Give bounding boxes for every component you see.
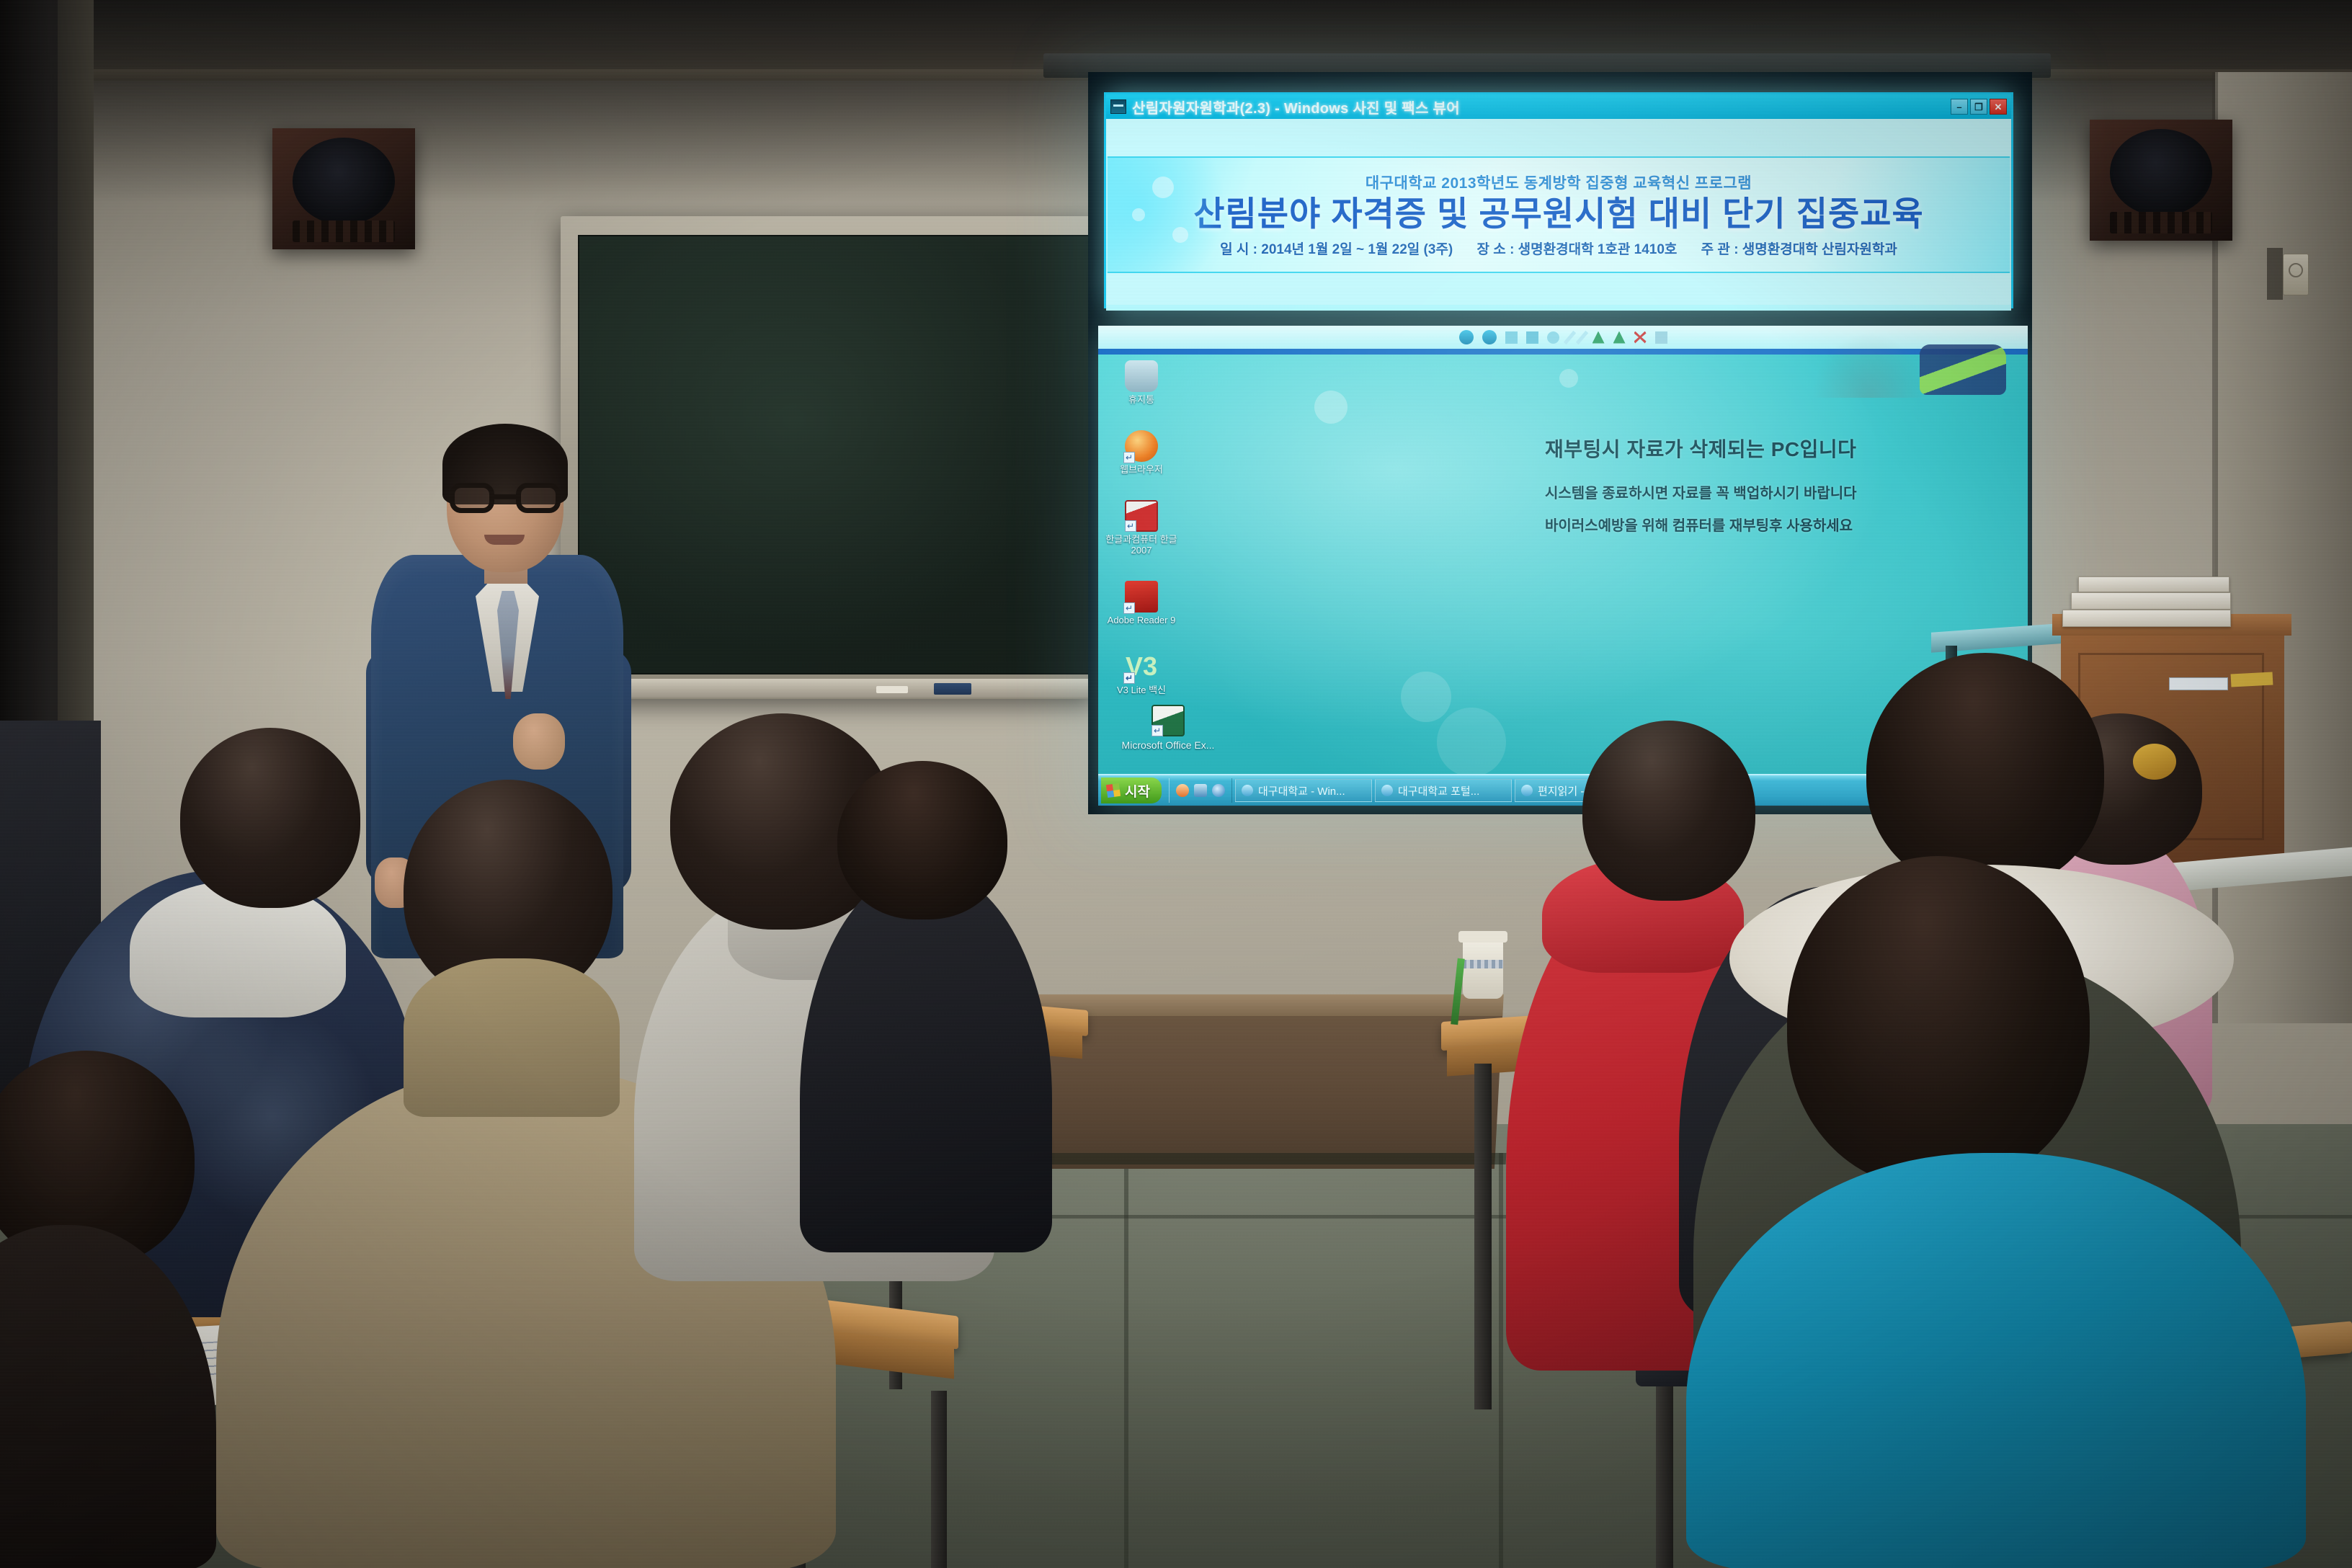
- start-slideshow-icon[interactable]: [1547, 331, 1559, 344]
- desktop-icon-recycle-bin[interactable]: 휴지통: [1104, 360, 1179, 406]
- recycle-bin-icon: [1125, 360, 1158, 392]
- shortcut-arrow-icon: ↵: [1125, 520, 1136, 532]
- wallpaper-notice-line-3: 바이러스예방을 위해 컴퓨터를 재부팅후 사용하세요: [1545, 514, 1948, 535]
- internet-explorer-icon: [1242, 785, 1253, 796]
- book-on-lectern: [2062, 610, 2231, 627]
- wallpaper-shoes-illustration: [1920, 344, 2006, 395]
- desktop-icon-label: V3 Lite 백신: [1104, 685, 1179, 696]
- start-button[interactable]: 시작: [1101, 778, 1162, 803]
- lectern-label: [2169, 677, 2228, 690]
- banner-title: 산림분야 자격증 및 공무원시험 대비 단기 집중교육: [1193, 196, 1923, 233]
- wallpaper-notice-line-2: 시스템을 종료하시면 자료를 꼭 백업하시기 바랍니다: [1545, 481, 1948, 502]
- chalk-tray: [574, 679, 1095, 698]
- banner-program-line: 대구대학교 2013학년도 동계방학 집중형 교육혁신 프로그램: [1366, 171, 1752, 193]
- shortcut-arrow-icon: ↵: [1123, 602, 1135, 614]
- wallpaper-umbrella-illustration: [1812, 333, 1927, 398]
- book-on-lectern: [2078, 576, 2229, 592]
- image-margin-bottom: [1106, 273, 2011, 305]
- glasses-icon: [448, 483, 562, 514]
- desktop-icon-browser[interactable]: ↵ 웹브라우저: [1104, 430, 1179, 476]
- desktop-icon-label: 휴지통: [1104, 395, 1179, 406]
- desktop-icon-label: Adobe Reader 9: [1104, 615, 1179, 626]
- photo-viewer-window[interactable]: 산림자원자원학과(2.3) - Windows 사진 및 팩스 뷰어 – ❐ ✕…: [1104, 92, 2013, 308]
- taskbar-task-button[interactable]: 대구대학교 포털...: [1375, 779, 1512, 802]
- student-desk-leg: [931, 1391, 947, 1568]
- floor-joint: [1499, 1153, 1503, 1568]
- rotate-clockwise-icon[interactable]: [1592, 331, 1605, 344]
- zoom-in-icon[interactable]: [1563, 330, 1575, 344]
- banner-detail-date: 일 시 : 2014년 1월 2일 ~ 1월 22일 (3주): [1220, 242, 1453, 257]
- minimize-button[interactable]: –: [1951, 99, 1968, 115]
- wallpaper-notice-line-1: 재부팅시 자료가 삭제되는 PC입니다: [1545, 434, 1948, 463]
- hwp-document-icon: ↵: [1125, 500, 1158, 532]
- banner-details: 일 시 : 2014년 1월 2일 ~ 1월 22일 (3주) 장 소 : 생명…: [1210, 239, 1907, 258]
- zoom-out-icon[interactable]: [1575, 330, 1587, 344]
- paper-cup-sleeve: [1463, 960, 1503, 968]
- desktop-icon-label: 웹브라우저: [1104, 465, 1179, 476]
- student-shoulders: [404, 958, 620, 1117]
- internet-explorer-icon[interactable]: [1212, 784, 1225, 797]
- internet-explorer-icon: [1381, 785, 1393, 796]
- best-fit-icon[interactable]: [1505, 331, 1518, 344]
- student-head: [1787, 856, 2090, 1188]
- banner-detail-place: 장 소 : 생명환경대학 1호관 1410호: [1477, 242, 1678, 257]
- classroom-photo: 산림자원자원학과(2.3) - Windows 사진 및 팩스 뷰어 – ❐ ✕…: [0, 0, 2352, 1568]
- wall-speaker-left: [272, 128, 415, 249]
- taskbar-task-button[interactable]: 대구대학교 - Win...: [1235, 779, 1372, 802]
- student-head: [837, 761, 1007, 919]
- poster-banner: 대구대학교 2013학년도 동계방학 집중형 교육혁신 프로그램 산림분야 자격…: [1108, 156, 2010, 273]
- windows-flag-icon: [1106, 783, 1121, 798]
- actual-size-icon[interactable]: [1526, 331, 1538, 344]
- book-on-lectern: [2071, 592, 2231, 610]
- floor-joint: [1124, 1124, 1128, 1568]
- desktop-icon-hancom[interactable]: ↵ 한글과컴퓨터 한글 2007: [1104, 500, 1179, 556]
- student-head: [1866, 653, 2104, 891]
- presenter-mouth: [484, 535, 525, 545]
- window-title-bar[interactable]: 산림자원자원학과(2.3) - Windows 사진 및 팩스 뷰어 – ❐ ✕: [1106, 94, 2011, 119]
- chalkboard-eraser[interactable]: [934, 683, 971, 695]
- desktop-icon-adobe-reader[interactable]: ↵ Adobe Reader 9: [1104, 581, 1179, 626]
- wallpaper-bubble: [1437, 708, 1506, 777]
- student-head: [1582, 721, 1755, 901]
- maximize-button[interactable]: ❐: [1970, 99, 1987, 115]
- start-button-label: 시작: [1125, 781, 1150, 801]
- desktop-icon-label: 한글과컴퓨터 한글 2007: [1104, 535, 1179, 556]
- media-player-icon[interactable]: [1194, 784, 1207, 797]
- shortcut-arrow-icon: ↵: [1123, 672, 1135, 684]
- previous-image-icon[interactable]: [1459, 330, 1474, 344]
- chalkboard: [561, 216, 1097, 699]
- paper-cup-lid: [1458, 931, 1507, 943]
- chalk[interactable]: [876, 686, 908, 693]
- image-margin-top: [1106, 119, 2011, 156]
- adobe-reader-icon: ↵: [1125, 581, 1158, 612]
- taskbar-task-label: 대구대학교 포털...: [1398, 783, 1479, 798]
- desktop-icon-excel[interactable]: ↵ Microsoft Office Ex...: [1092, 705, 1244, 751]
- wallpaper-bubble: [1559, 369, 1578, 388]
- lectern-sticker: [2231, 672, 2273, 687]
- wall-switch[interactable]: [2283, 254, 2309, 295]
- wall-switch-shadow: [2267, 248, 2283, 300]
- desktop-icon-label: Microsoft Office Ex...: [1092, 739, 1244, 751]
- shortcut-arrow-icon: ↵: [1123, 452, 1135, 463]
- banner-bubble: [1132, 208, 1145, 221]
- next-image-icon[interactable]: [1482, 330, 1497, 344]
- internet-explorer-icon: [1521, 785, 1533, 796]
- banner-detail-host: 주 관 : 생명환경대학 산림자원학과: [1701, 242, 1897, 257]
- desktop-icon-v3[interactable]: V3 ↵ V3 Lite 백신: [1104, 651, 1179, 696]
- banner-bubble: [1172, 227, 1188, 243]
- quick-launch-bar[interactable]: [1169, 778, 1232, 803]
- student-desk-leg: [1474, 1064, 1492, 1409]
- wallpaper-bubble: [1401, 672, 1451, 722]
- close-button[interactable]: ✕: [1990, 99, 2007, 115]
- student-desk-leg: [1656, 1366, 1673, 1568]
- raised-platform-edge: [1009, 1153, 1507, 1164]
- student-head: [180, 728, 360, 908]
- photo-viewer-icon: [1110, 99, 1126, 114]
- delete-icon[interactable]: [1634, 331, 1647, 344]
- print-icon[interactable]: [1655, 331, 1667, 344]
- photo-viewer-body: 대구대학교 2013학년도 동계방학 집중형 교육혁신 프로그램 산림분야 자격…: [1106, 119, 2011, 311]
- v3-antivirus-icon: V3 ↵: [1125, 651, 1158, 682]
- window-controls: – ❐ ✕: [1951, 99, 2007, 115]
- window-title-text: 산림자원자원학과(2.3) - Windows 사진 및 팩스 뷰어: [1132, 97, 1460, 117]
- show-desktop-icon[interactable]: [1176, 784, 1189, 797]
- wallpaper-notice: 재부팅시 자료가 삭제되는 PC입니다 시스템을 종료하시면 자료를 꼭 백업하…: [1545, 434, 1948, 535]
- browser-icon: ↵: [1125, 430, 1158, 462]
- banner-decoration: [1108, 156, 1223, 273]
- chalkboard-surface: [578, 235, 1090, 674]
- shortcut-arrow-icon: ↵: [1151, 725, 1163, 736]
- excel-icon: ↵: [1151, 705, 1185, 736]
- hair-tie: [2133, 744, 2176, 780]
- wall-speaker-right: [2090, 120, 2232, 241]
- presenter-right-hand: [513, 713, 565, 770]
- wallpaper-bubble: [1314, 391, 1347, 424]
- taskbar-task-label: 대구대학교 - Win...: [1258, 783, 1345, 798]
- banner-bubble: [1152, 177, 1174, 198]
- rotate-counterclockwise-icon[interactable]: [1613, 331, 1626, 344]
- desktop-icon-list: 휴지통 ↵ 웹브라우저 ↵ 한글과컴퓨터 한글 2007 ↵: [1104, 360, 1190, 721]
